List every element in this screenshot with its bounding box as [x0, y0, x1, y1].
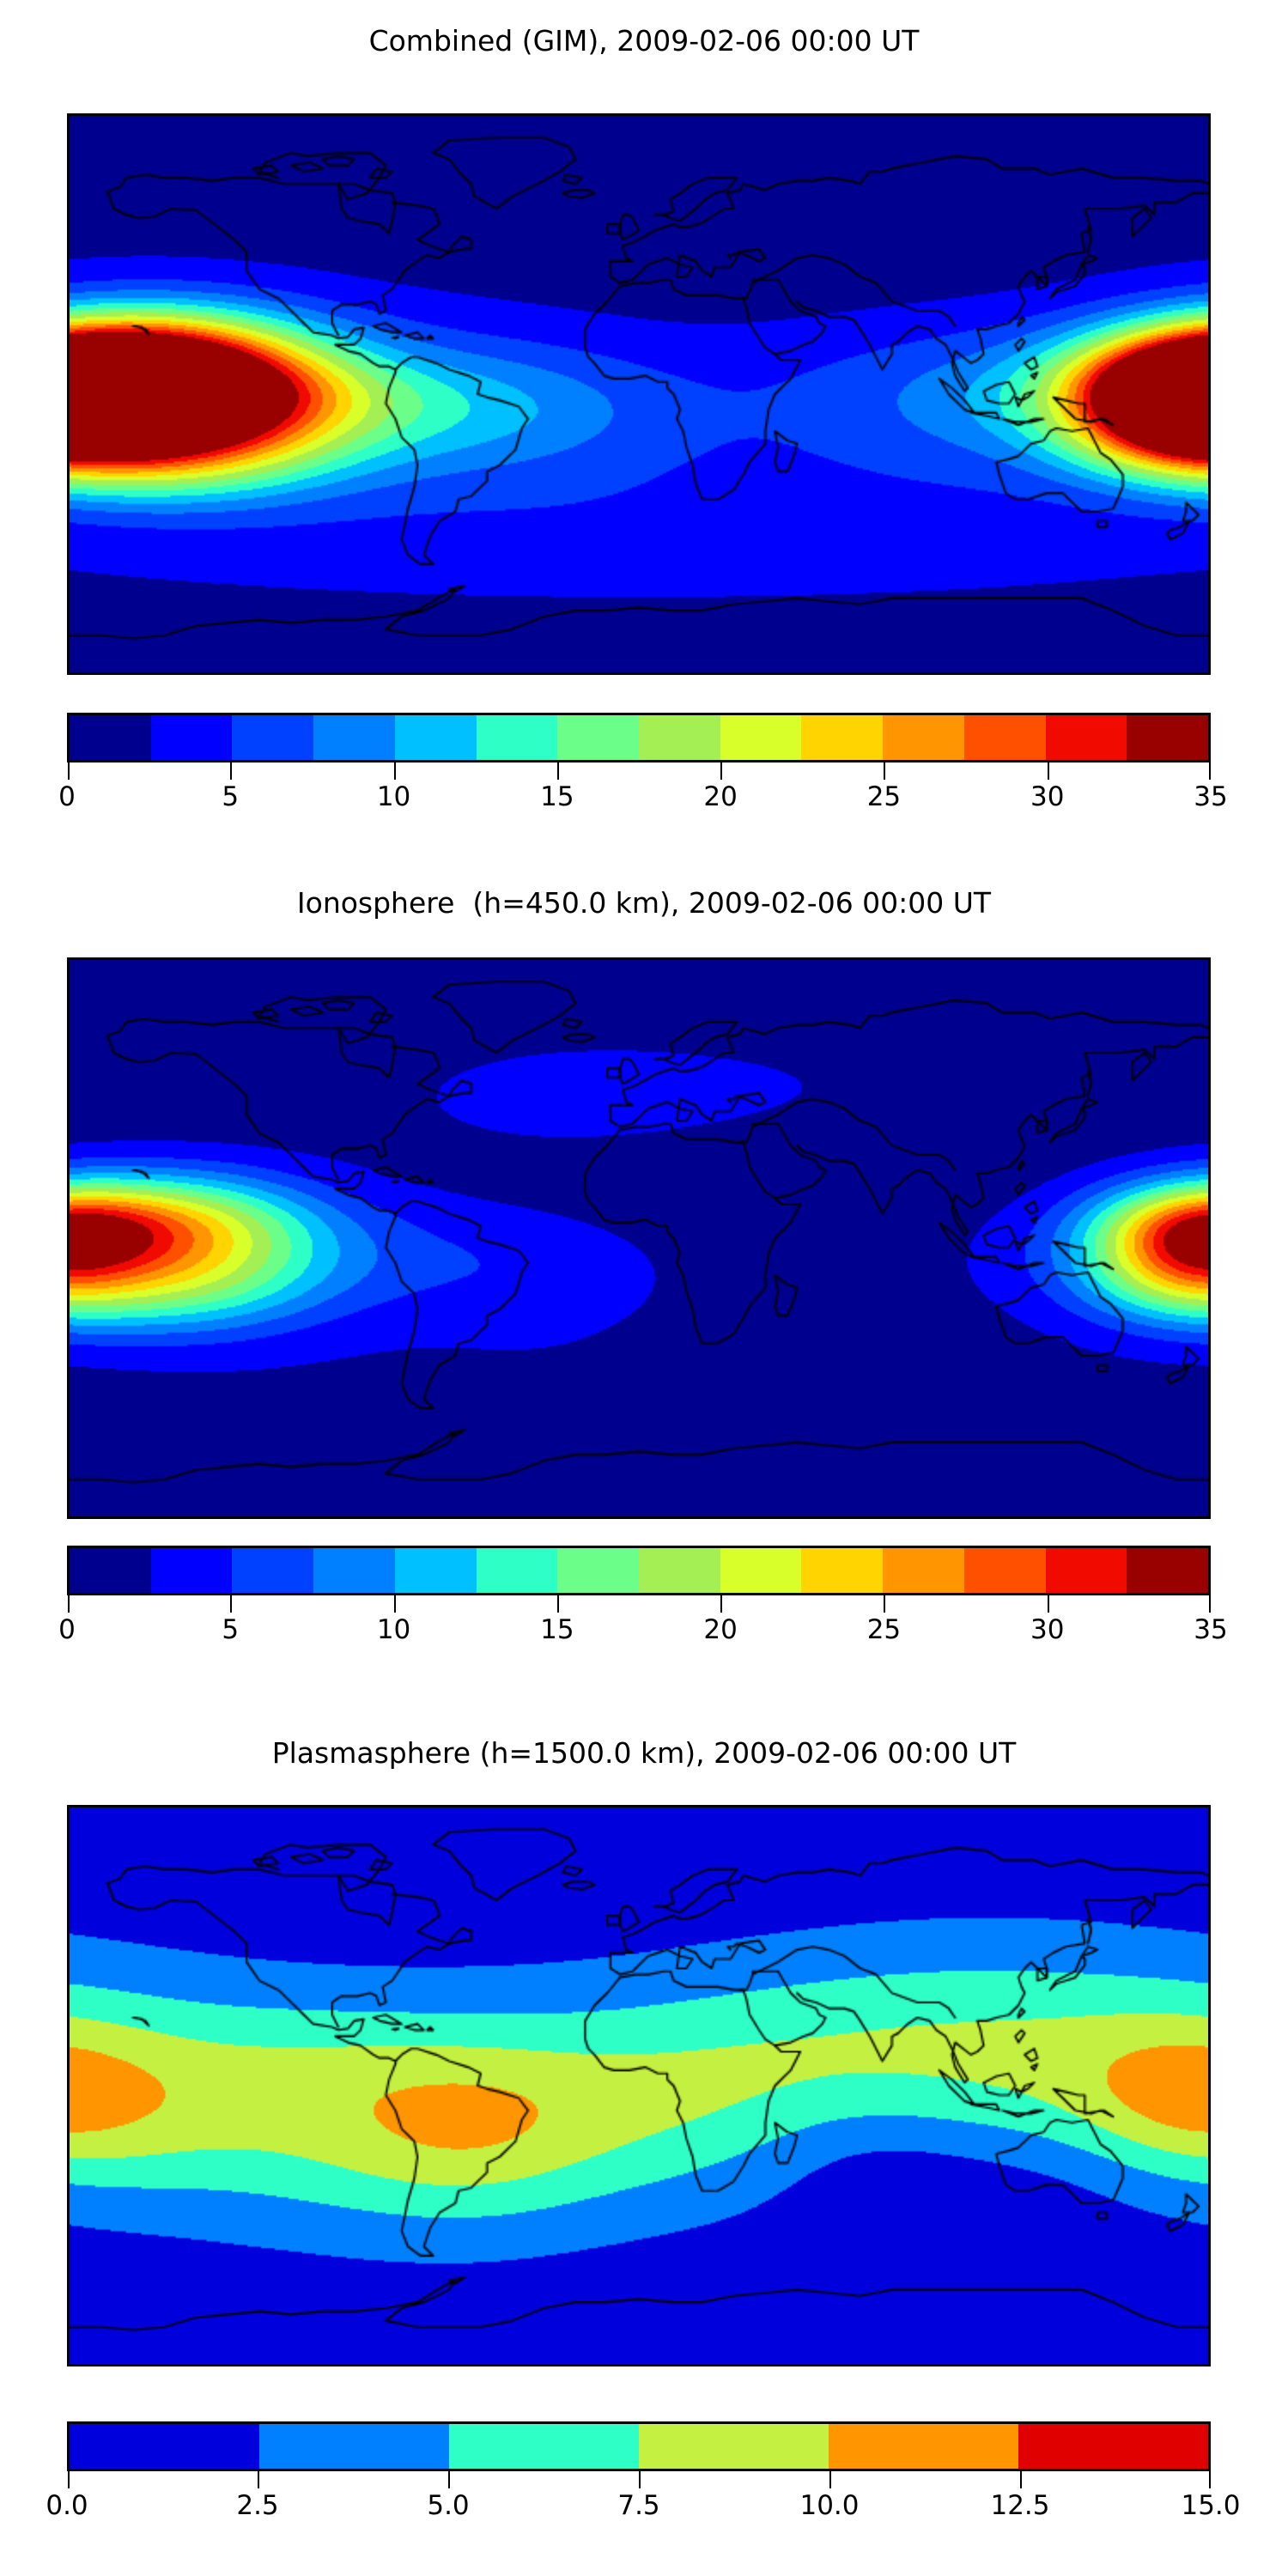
panel-title-plasmasphere: Plasmasphere (h=1500.0 km), 2009-02-06 0…: [0, 1736, 1288, 1771]
map-ionosphere: [67, 957, 1211, 1519]
colorbar-segment-7: [639, 1548, 720, 1593]
colorbar-tick: [1020, 2471, 1022, 2488]
map-canvas-combined: [70, 116, 1208, 672]
colorbar-tick-label: 30: [1030, 781, 1064, 812]
colorbar-tick-label: 5.0: [427, 2490, 469, 2521]
colorbar-segment-1: [151, 715, 233, 760]
colorbar-tick-label: 15: [540, 781, 574, 812]
colorbar-segment-13: [1127, 715, 1208, 760]
colorbar-tick: [1048, 762, 1049, 780]
colorbar-tick-label: 10.0: [799, 2490, 859, 2521]
map-canvas-ionosphere: [70, 960, 1208, 1516]
colorbar-tick-label: 20: [703, 1614, 737, 1645]
colorbar-segment-12: [1046, 1548, 1127, 1593]
colorbar-tick: [1209, 2471, 1211, 2488]
colorbar-segment-5: [477, 1548, 558, 1593]
colorbar-segment-0: [70, 715, 151, 760]
colorbar-tick: [557, 762, 559, 780]
colorbar-tick-label: 5: [222, 781, 239, 812]
colorbar-tick: [258, 2471, 259, 2488]
colorbar-tick-label: 25: [867, 781, 901, 812]
colorbar-tick-label: 0: [58, 781, 76, 812]
colorbar-tick-label: 15: [540, 1614, 574, 1645]
colorbar-tick: [720, 1595, 722, 1613]
colorbar-segment-6: [557, 1548, 639, 1593]
colorbar-segment-10: [883, 715, 964, 760]
tec-maps-figure: Combined (GIM), 2009-02-06 00:00 UT 0510…: [0, 0, 1288, 2576]
colorbar-segment-2: [232, 1548, 313, 1593]
colorbar-segment-10: [883, 1548, 964, 1593]
colorbar-tick: [448, 2471, 450, 2488]
colorbar-segment-6: [557, 715, 639, 760]
colorbar-ticks-combined: [67, 762, 1211, 781]
colorbar-segment-4: [829, 2424, 1018, 2469]
colorbar-tick-label: 12.5: [990, 2490, 1049, 2521]
panel-title-combined: Combined (GIM), 2009-02-06 00:00 UT: [0, 24, 1288, 58]
colorbar-tick: [720, 762, 722, 780]
panel-combined-gim: Combined (GIM), 2009-02-06 00:00 UT: [0, 24, 1288, 58]
colorbar-tick-label: 25: [867, 1614, 901, 1645]
colorbar-combined: 05101520253035: [67, 713, 1211, 819]
panel-plasmasphere: Plasmasphere (h=1500.0 km), 2009-02-06 0…: [0, 1736, 1288, 1771]
colorbar-segment-3: [313, 1548, 395, 1593]
colorbar-tick: [557, 1595, 559, 1613]
map-combined-gim: [67, 113, 1211, 675]
colorbar-tick: [884, 1595, 885, 1613]
colorbar-tick-label: 7.5: [617, 2490, 659, 2521]
colorbar-ionosphere: 05101520253035: [67, 1546, 1211, 1652]
colorbar-segment-2: [449, 2424, 639, 2469]
colorbar-segment-8: [720, 715, 802, 760]
map-canvas-plasmasphere: [70, 1807, 1208, 2364]
colorbar-gradient-plasmasphere: [67, 2421, 1211, 2471]
colorbar-segment-1: [151, 1548, 233, 1593]
colorbar-tick-label: 35: [1194, 781, 1227, 812]
colorbar-tick-label: 20: [703, 781, 737, 812]
colorbar-segment-4: [395, 715, 477, 760]
colorbar-segment-0: [70, 1548, 151, 1593]
colorbar-labels-combined: 05101520253035: [67, 781, 1211, 819]
colorbar-segment-3: [313, 715, 395, 760]
colorbar-tick: [230, 762, 232, 780]
colorbar-segment-11: [964, 1548, 1046, 1593]
colorbar-tick: [394, 1595, 396, 1613]
colorbar-tick: [1209, 762, 1211, 780]
colorbar-tick-label: 30: [1030, 1614, 1064, 1645]
colorbar-tick-label: 0.0: [46, 2490, 88, 2521]
colorbar-tick-label: 10: [377, 781, 410, 812]
colorbar-segment-5: [477, 715, 558, 760]
colorbar-tick: [230, 1595, 232, 1613]
colorbar-gradient-ionosphere: [67, 1546, 1211, 1595]
colorbar-segment-12: [1046, 715, 1127, 760]
colorbar-segment-0: [70, 2424, 259, 2469]
colorbar-ticks-plasmasphere: [67, 2471, 1211, 2490]
colorbar-tick: [639, 2471, 641, 2488]
colorbar-tick-label: 10: [377, 1614, 410, 1645]
panel-title-ionosphere: Ionosphere (h=450.0 km), 2009-02-06 00:0…: [0, 886, 1288, 920]
colorbar-segment-5: [1018, 2424, 1208, 2469]
colorbar-tick: [884, 762, 885, 780]
colorbar-segment-8: [720, 1548, 802, 1593]
panel-ionosphere: Ionosphere (h=450.0 km), 2009-02-06 00:0…: [0, 886, 1288, 920]
colorbar-tick: [1048, 1595, 1049, 1613]
colorbar-segment-1: [259, 2424, 449, 2469]
colorbar-tick-label: 15.0: [1181, 2490, 1240, 2521]
colorbar-tick: [68, 762, 70, 780]
colorbar-tick: [394, 762, 396, 780]
colorbar-segment-13: [1127, 1548, 1208, 1593]
colorbar-tick-label: 2.5: [236, 2490, 278, 2521]
colorbar-labels-plasmasphere: 0.02.55.07.510.012.515.0: [67, 2490, 1211, 2528]
colorbar-tick: [68, 2471, 70, 2488]
colorbar-segment-7: [639, 715, 720, 760]
colorbar-labels-ionosphere: 05101520253035: [67, 1614, 1211, 1652]
colorbar-segment-3: [639, 2424, 829, 2469]
colorbar-tick: [829, 2471, 831, 2488]
colorbar-gradient-combined: [67, 713, 1211, 762]
colorbar-segment-9: [801, 715, 883, 760]
map-plasmasphere: [67, 1805, 1211, 2366]
colorbar-plasmasphere: 0.02.55.07.510.012.515.0: [67, 2421, 1211, 2528]
colorbar-tick: [68, 1595, 70, 1613]
colorbar-segment-9: [801, 1548, 883, 1593]
colorbar-tick-label: 5: [222, 1614, 239, 1645]
colorbar-segment-2: [232, 715, 313, 760]
colorbar-segment-11: [964, 715, 1046, 760]
colorbar-tick: [1209, 1595, 1211, 1613]
colorbar-tick-label: 35: [1194, 1614, 1227, 1645]
colorbar-tick-label: 0: [58, 1614, 76, 1645]
colorbar-segment-4: [395, 1548, 477, 1593]
colorbar-ticks-ionosphere: [67, 1595, 1211, 1614]
